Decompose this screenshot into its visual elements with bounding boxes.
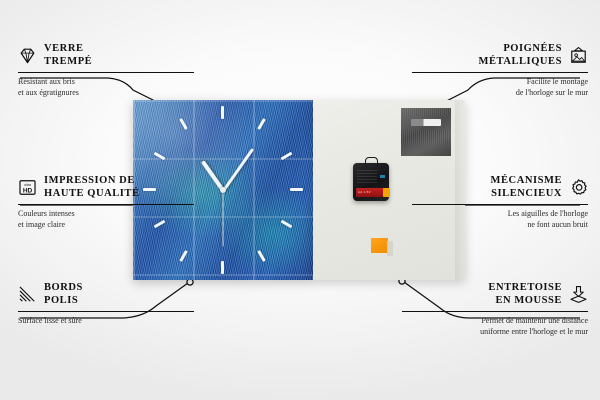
mechanism-hook [365,157,378,166]
callout-title: VERRE TREMPÉ [44,42,92,69]
callout-bords-polis: BORDS POLIS Surface lisse et sûre [18,281,194,327]
battery-label: AA 1.5V [358,190,371,194]
mechanism-detail [357,169,377,183]
callout-header: POIGNÉES MÉTALLIQUES [412,42,588,69]
tick-1 [257,118,266,130]
callout-title: BORDS POLIS [44,281,83,308]
clock-minute-hand [222,148,254,192]
polished-edge-icon [18,285,37,304]
clock-mechanism: AA 1.5V [353,163,389,201]
tick-6 [221,261,224,274]
gear-icon [569,178,588,197]
callout-subtitle: Résistant aux bris et aux égratignures [18,77,194,98]
diamond-icon [18,46,37,65]
tick-7 [179,250,188,262]
callout-subtitle: Permet de maintenir une distance uniform… [402,316,588,337]
battery: AA 1.5V [356,188,386,197]
callout-rule [18,204,194,205]
picture-hanger-icon [569,46,588,65]
callout-subtitle: Surface lisse et sûre [18,316,194,327]
callout-title: MÉCANISME SILENCIEUX [491,174,562,201]
callout-header: ultra HD IMPRESSION DE HAUTE QUALITÉ [18,174,194,201]
tick-12 [221,106,224,119]
battery-terminal [383,188,390,197]
callout-impression-haute-qualite: ultra HD IMPRESSION DE HAUTE QUALITÉ Cou… [18,174,194,230]
tick-11 [179,118,188,130]
foam-spacer [371,238,388,253]
callout-title: IMPRESSION DE HAUTE QUALITÉ [44,174,140,201]
callout-header: VERRE TREMPÉ [18,42,194,69]
callout-rule [18,311,194,312]
callout-rule [412,204,588,205]
metal-hanger-plate [401,108,451,156]
clock-center-cap [220,187,226,193]
callout-verre-trempe: VERRE TREMPÉ Résistant aux bris et aux é… [18,42,194,98]
callout-title: POIGNÉES MÉTALLIQUES [479,42,562,69]
callout-header: ENTRETOISE EN MOUSSE [402,281,588,308]
callout-rule [412,72,588,73]
svg-text:HD: HD [23,187,33,194]
clock-second-hand [223,191,224,247]
tick-4 [281,220,293,229]
ultra-hd-icon: ultra HD [18,178,37,197]
callout-entretoise-en-mousse: ENTRETOISE EN MOUSSE Permet de maintenir… [402,281,588,337]
tick-2 [281,152,293,161]
callout-header: MÉCANISME SILENCIEUX [412,174,588,201]
callout-subtitle: Facilite le montage de l'horloge sur le … [412,77,588,98]
callout-header: BORDS POLIS [18,281,194,308]
hanger-slot [411,119,441,126]
callout-subtitle: Les aiguilles de l'horloge ne font aucun… [412,209,588,230]
infographic-stage: AA 1.5V VERRE TREMPÉ Résistant aux bris … [0,0,600,400]
callout-rule [18,72,194,73]
callout-rule [402,311,588,312]
callout-subtitle: Couleurs intenses et image claire [18,209,194,230]
tick-5 [257,250,266,262]
foam-spacer-arrow-icon [569,285,588,304]
callout-title: ENTRETOISE EN MOUSSE [488,281,562,308]
mechanism-led [380,175,385,178]
callout-mecanisme-silencieux: MÉCANISME SILENCIEUX Les aiguilles de l'… [412,174,588,230]
tick-3 [290,188,303,191]
tick-10 [154,152,166,161]
callout-poignees-metalliques: POIGNÉES MÉTALLIQUES Facilite le montage… [412,42,588,98]
